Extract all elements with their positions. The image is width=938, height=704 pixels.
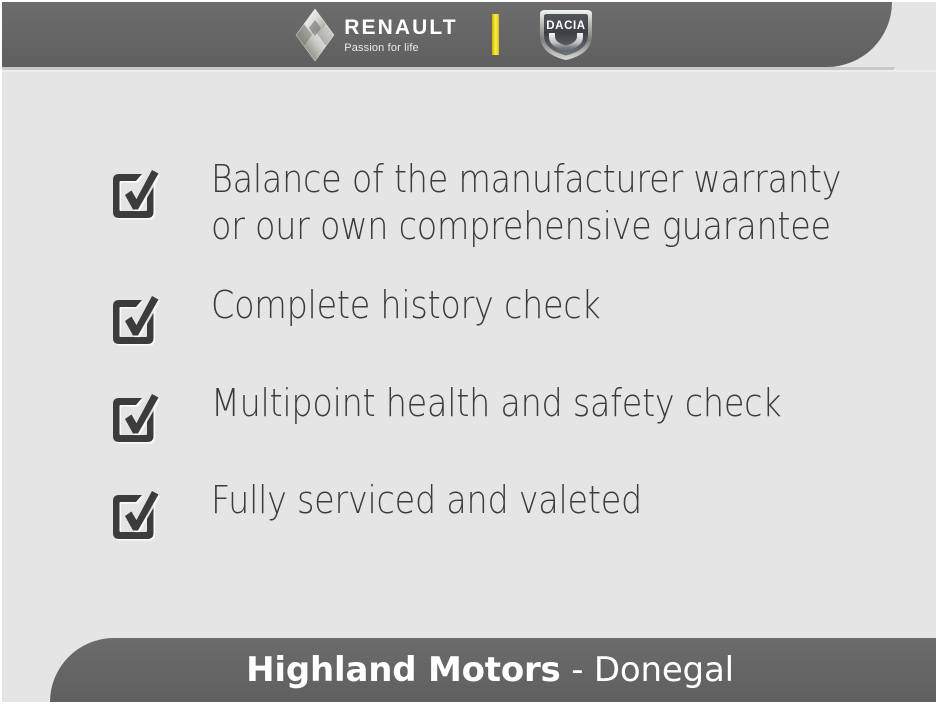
list-item: Complete history check <box>106 286 654 348</box>
checkbox-checked-icon <box>106 290 162 348</box>
checkbox-checked-icon <box>106 485 162 543</box>
checklist: Balance of the manufacturer warranty or … <box>2 70 938 638</box>
renault-diamond-icon <box>295 8 335 62</box>
list-item-label: Balance of the manufacturer warranty or … <box>211 156 841 250</box>
brand-divider-yellow <box>492 14 499 55</box>
dacia-shield-icon: DACIA <box>533 8 599 62</box>
footer-bar: Highland Motors - Donegal <box>50 638 938 702</box>
renault-lockup: RENAULT Passion for life <box>295 8 457 62</box>
header-bar: RENAULT Passion for life <box>2 2 892 67</box>
list-item: Multipoint health and safety check <box>106 384 859 446</box>
list-item-label: Complete history check <box>211 282 601 329</box>
list-item: Balance of the manufacturer warranty or … <box>106 160 927 250</box>
dealer-location: Donegal <box>594 650 734 690</box>
renault-tagline: Passion for life <box>344 43 419 54</box>
list-item-label: Multipoint health and safety check <box>211 380 781 427</box>
promo-banner: RENAULT Passion for life <box>0 0 938 704</box>
list-item-label: Fully serviced and valeted <box>211 477 642 524</box>
renault-wordmark-block: RENAULT Passion for life <box>344 15 457 54</box>
checkbox-checked-icon <box>106 164 162 222</box>
list-item: Fully serviced and valeted <box>106 481 701 543</box>
dealer-name-block: Highland Motors - Donegal <box>246 653 734 687</box>
renault-wordmark: RENAULT <box>344 17 457 38</box>
brand-lockup-row: RENAULT Passion for life <box>2 2 892 67</box>
checkbox-checked-icon <box>106 388 162 446</box>
dealer-separator: - <box>561 650 594 690</box>
svg-text:DACIA: DACIA <box>546 20 585 32</box>
dealer-name: Highland Motors <box>246 650 560 690</box>
